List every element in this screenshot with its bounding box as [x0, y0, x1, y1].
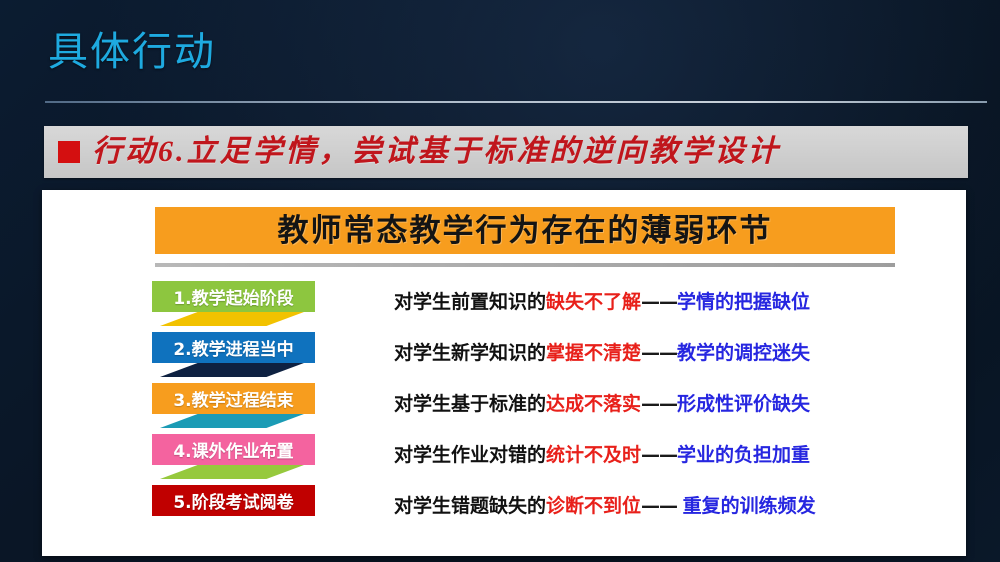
row-lead: 对学生基于标准的	[394, 393, 546, 415]
row-lead: 对学生前置知识的	[394, 291, 546, 313]
row-description: 对学生作业对错的统计不及时——学业的负担加重	[394, 443, 810, 467]
row-lead: 对学生作业对错的	[394, 444, 546, 466]
row-dash: ——	[641, 291, 677, 313]
figure-row: 2.教学进程当中 对学生新学知识的掌握不清楚——教学的调控迷失	[42, 327, 966, 378]
row-result: 重复的训练频发	[683, 495, 816, 517]
figure-panel: 教师常态教学行为存在的薄弱环节 1.教学起始阶段 对学生前置知识的缺失不了解——…	[42, 190, 966, 556]
stage-box-label: 4.课外作业布置	[173, 437, 293, 462]
stage-box-label: 3.教学过程结束	[173, 386, 293, 411]
row-dash: ——	[641, 444, 677, 466]
row-result: 学情的把握缺位	[677, 291, 810, 313]
row-dash: ——	[641, 495, 683, 517]
stage-box: 1.教学起始阶段	[152, 281, 315, 312]
slide-canvas: 具体行动 行动6.立足学情，尝试基于标准的逆向教学设计 教师常态教学行为存在的薄…	[0, 0, 1000, 562]
row-result: 形成性评价缺失	[677, 393, 810, 415]
filled-square-icon	[58, 141, 80, 163]
row-result: 学业的负担加重	[677, 444, 810, 466]
action-heading-band: 行动6.立足学情，尝试基于标准的逆向教学设计	[44, 126, 968, 178]
row-lead: 对学生新学知识的	[394, 342, 546, 364]
row-description: 对学生前置知识的缺失不了解——学情的把握缺位	[394, 290, 810, 314]
figure-rows: 1.教学起始阶段 对学生前置知识的缺失不了解——学情的把握缺位 2.教学进程当中…	[42, 276, 966, 531]
row-description: 对学生新学知识的掌握不清楚——教学的调控迷失	[394, 341, 810, 365]
figure-row: 5.阶段考试阅卷 对学生错题缺失的诊断不到位—— 重复的训练频发	[42, 480, 966, 531]
stage-box-label: 1.教学起始阶段	[173, 284, 293, 309]
row-dash: ——	[641, 393, 677, 415]
row-problem: 缺失不了解	[546, 291, 641, 313]
figure-row: 1.教学起始阶段 对学生前置知识的缺失不了解——学情的把握缺位	[42, 276, 966, 327]
stage-box-label: 2.教学进程当中	[173, 335, 293, 360]
row-problem: 掌握不清楚	[546, 342, 641, 364]
figure-banner-bar: 教师常态教学行为存在的薄弱环节	[155, 207, 895, 254]
row-description: 对学生基于标准的达成不落实——形成性评价缺失	[394, 392, 810, 416]
action-heading-text: 行动6.立足学情，尝试基于标准的逆向教学设计	[92, 135, 781, 169]
row-description: 对学生错题缺失的诊断不到位—— 重复的训练频发	[394, 494, 816, 518]
row-problem: 统计不及时	[546, 444, 641, 466]
figure-banner-title: 教师常态教学行为存在的薄弱环节	[278, 214, 773, 248]
stage-box: 2.教学进程当中	[152, 332, 315, 363]
stage-box-label: 5.阶段考试阅卷	[173, 488, 293, 513]
title-divider	[45, 101, 987, 103]
figure-row: 4.课外作业布置 对学生作业对错的统计不及时——学业的负担加重	[42, 429, 966, 480]
row-dash: ——	[641, 342, 677, 364]
stage-box: 4.课外作业布置	[152, 434, 315, 465]
figure-row: 3.教学过程结束 对学生基于标准的达成不落实——形成性评价缺失	[42, 378, 966, 429]
figure-banner: 教师常态教学行为存在的薄弱环节	[155, 207, 895, 267]
stage-box: 3.教学过程结束	[152, 383, 315, 414]
page-title: 具体行动	[48, 26, 216, 78]
row-lead: 对学生错题缺失的	[394, 495, 546, 517]
figure-banner-underline	[155, 263, 895, 267]
row-result: 教学的调控迷失	[677, 342, 810, 364]
stage-box: 5.阶段考试阅卷	[152, 485, 315, 516]
row-problem: 诊断不到位	[546, 495, 641, 517]
row-problem: 达成不落实	[546, 393, 641, 415]
